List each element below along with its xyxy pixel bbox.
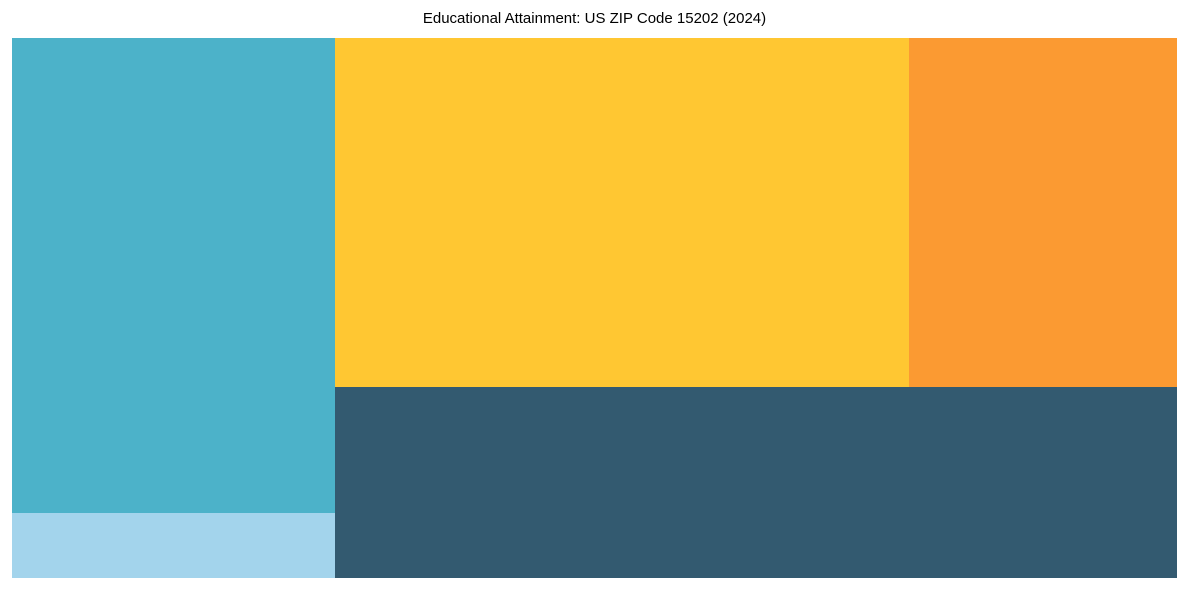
treemap-tile[interactable]: Less than high school <box>12 513 335 578</box>
treemap-tile[interactable]: Some college, no degree <box>12 38 335 513</box>
treemap-tile[interactable]: Graduate or professional degree <box>909 38 1177 387</box>
figure-canvas: Educational Attainment: US ZIP Code 1520… <box>0 0 1189 590</box>
treemap-tile[interactable]: Bachelor's degree <box>335 38 909 387</box>
treemap-tile[interactable]: High school graduate <box>335 387 1177 578</box>
page-title: Educational Attainment: US ZIP Code 1520… <box>0 0 1189 38</box>
treemap-plot-area: Some college, no degreeLess than high sc… <box>12 38 1177 578</box>
